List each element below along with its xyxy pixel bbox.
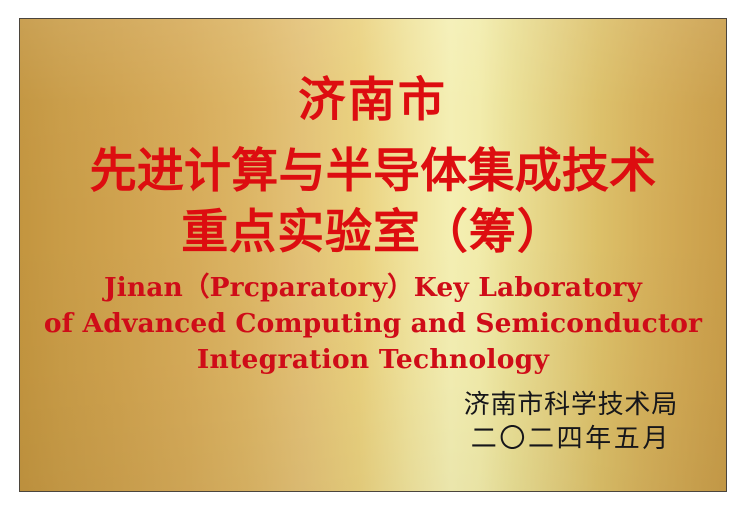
issuing-authority: 济南市科学技术局 (464, 389, 678, 423)
signature-block: 济南市科学技术局 二〇二四年五月 (464, 389, 678, 457)
english-subtitle-line-1: Jinan（Prcparatory）Key Laboratory (20, 275, 726, 302)
chinese-title-line-2: 先进计算与半导体集成技术 (20, 148, 726, 195)
english-subtitle-line-2: of Advanced Computing and Semiconductor (20, 311, 726, 338)
laboratory-plaque: 济南市 先进计算与半导体集成技术 重点实验室（筹） Jinan（Prcparat… (19, 18, 727, 492)
plaque-content: 济南市 先进计算与半导体集成技术 重点实验室（筹） Jinan（Prcparat… (20, 19, 726, 491)
english-subtitle-line-3: Integration Technology (20, 347, 726, 374)
chinese-title-line-1: 济南市 (20, 77, 726, 124)
chinese-title-line-3: 重点实验室（筹） (20, 209, 726, 256)
issue-date: 二〇二四年五月 (464, 423, 678, 457)
page-background: 济南市 先进计算与半导体集成技术 重点实验室（筹） Jinan（Prcparat… (0, 0, 747, 511)
